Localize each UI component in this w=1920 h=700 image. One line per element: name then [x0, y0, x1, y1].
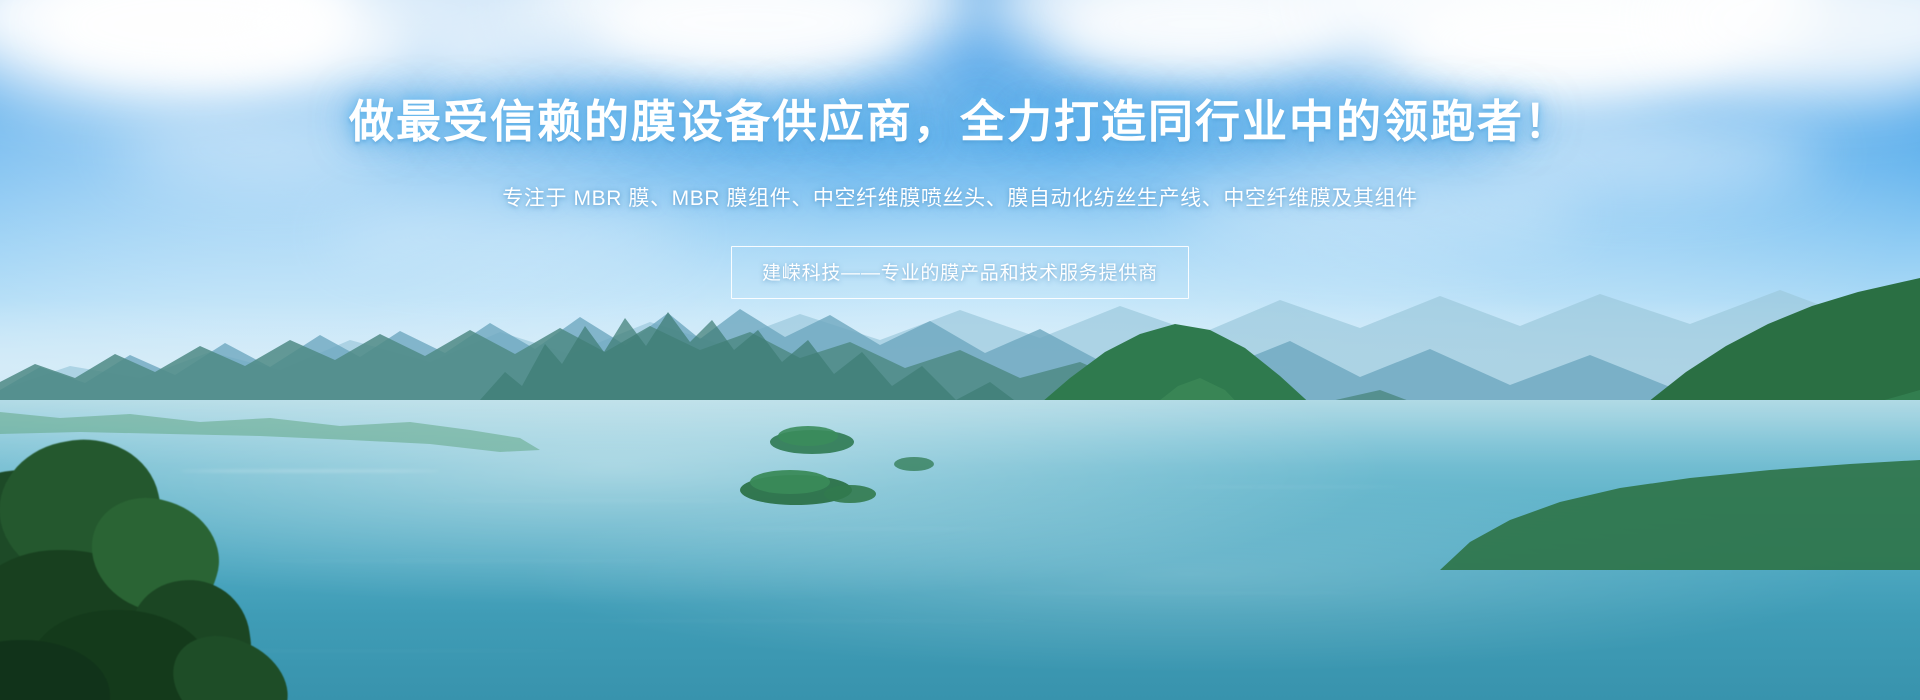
hero-banner: 做最受信赖的膜设备供应商，全力打造同行业中的领跑者！ 专注于 MBR 膜、MBR…	[0, 0, 1920, 700]
banner-headline: 做最受信赖的膜设备供应商，全力打造同行业中的领跑者！	[349, 96, 1571, 148]
banner-tagline: 建嵘科技——专业的膜产品和技术服务提供商	[762, 258, 1158, 285]
tagline-box: 建嵘科技——专业的膜产品和技术服务提供商	[731, 246, 1189, 299]
banner-text-block: 做最受信赖的膜设备供应商，全力打造同行业中的领跑者！ 专注于 MBR 膜、MBR…	[0, 0, 1920, 700]
banner-subtitle: 专注于 MBR 膜、MBR 膜组件、中空纤维膜喷丝头、膜自动化纺丝生产线、中空纤…	[502, 182, 1417, 212]
